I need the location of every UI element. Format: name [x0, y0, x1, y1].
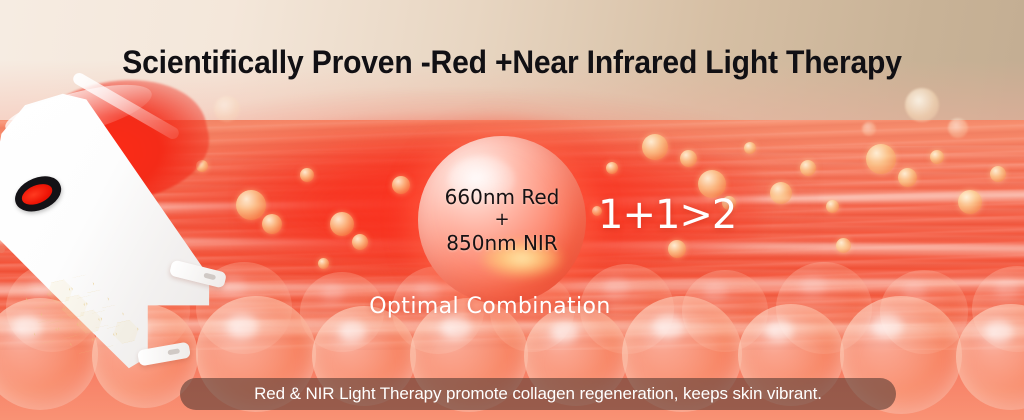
collagen-bubble	[262, 214, 282, 234]
collagen-bubble	[668, 240, 686, 258]
collagen-bubble	[642, 134, 668, 160]
bokeh-light	[905, 88, 939, 122]
collagen-bubble	[318, 258, 329, 269]
wavelength-nir-label: 850nm NIR	[446, 230, 557, 256]
wavelength-red-label: 660nm Red	[445, 184, 560, 210]
bokeh-light	[862, 122, 876, 136]
collagen-bubble	[958, 190, 982, 214]
collagen-bubble	[826, 200, 839, 213]
collagen-bubble	[930, 150, 944, 164]
collagen-bubble	[680, 150, 697, 167]
collagen-bubble	[744, 142, 756, 154]
collagen-bubble	[770, 182, 792, 204]
sphere-label-group: 660nm Red + 850nm NIR	[418, 136, 586, 304]
collagen-bubble	[352, 234, 368, 250]
plus-symbol: +	[494, 210, 509, 230]
collagen-bubble	[866, 144, 896, 174]
wavelength-sphere: 660nm Red + 850nm NIR	[418, 136, 586, 304]
subtitle-optimal-combination: Optimal Combination	[0, 294, 1002, 319]
collagen-bubble	[392, 176, 410, 194]
collagen-bubble	[606, 162, 618, 174]
bokeh-light	[948, 118, 968, 138]
bottom-caption-text: Red & NIR Light Therapy promote collagen…	[254, 384, 822, 404]
mask-vent-dot	[0, 246, 5, 253]
collagen-bubble	[836, 238, 851, 253]
collagen-bubble	[300, 168, 314, 182]
collagen-bubble	[898, 168, 917, 187]
synergy-ratio-text: 1+1>2	[598, 192, 736, 238]
led-face-mask-device	[0, 78, 252, 388]
collagen-bubble	[330, 212, 354, 236]
bottom-caption-banner: Red & NIR Light Therapy promote collagen…	[180, 378, 896, 410]
collagen-bubble	[990, 166, 1006, 182]
page-title: Scientifically Proven -Red +Near Infrare…	[31, 44, 994, 81]
promo-poster: Scientifically Proven -Red +Near Infrare…	[0, 0, 1024, 420]
collagen-bubble	[800, 160, 816, 176]
